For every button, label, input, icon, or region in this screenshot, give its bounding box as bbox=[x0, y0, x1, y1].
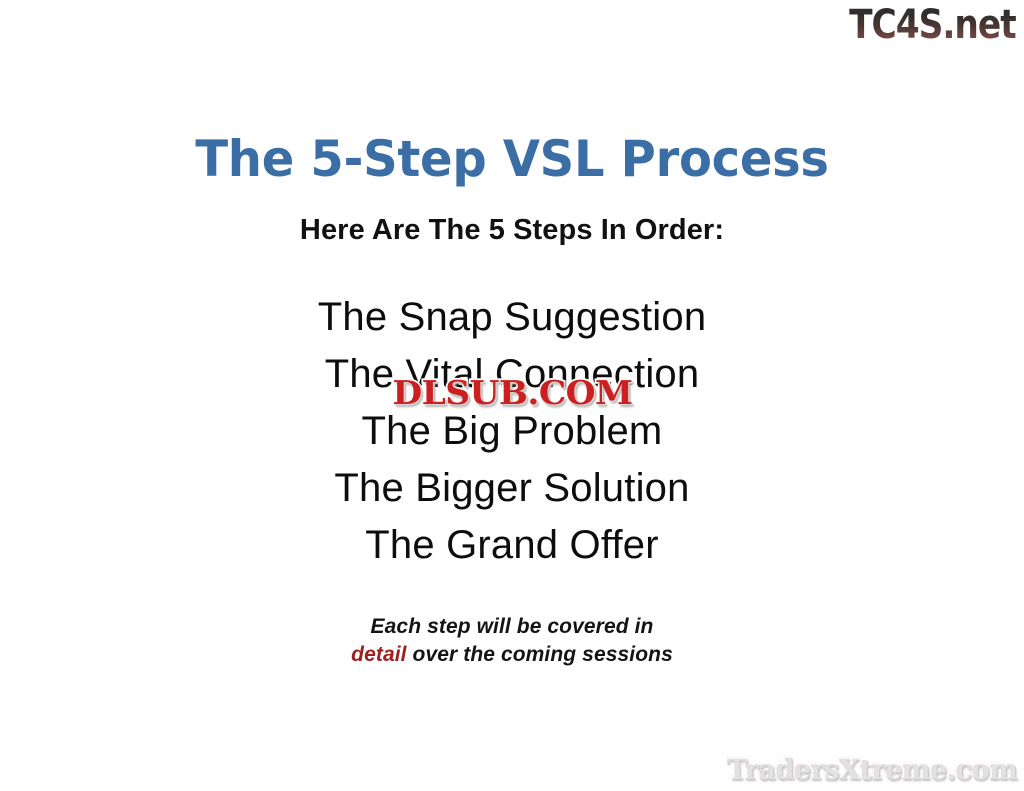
closing-note-rest: over the coming sessions bbox=[407, 643, 673, 666]
brand-logo-tc4s: TC4S.net bbox=[849, 2, 1016, 48]
steps-list: The Snap Suggestion The Vital Connection… bbox=[0, 289, 1024, 574]
presentation-slide: TC4S.net The 5-Step VSL Process Here Are… bbox=[0, 0, 1024, 791]
list-item: The Big Problem bbox=[0, 403, 1024, 460]
site-logo-tradersxtreme: TradersXtreme.com bbox=[726, 752, 1016, 786]
list-item: The Snap Suggestion bbox=[0, 289, 1024, 346]
list-item: The Bigger Solution bbox=[0, 460, 1024, 517]
slide-subtitle: Here Are The 5 Steps In Order: bbox=[0, 212, 1024, 248]
closing-note-line-1: Each step will be covered in bbox=[0, 613, 1024, 641]
closing-note: Each step will be covered in detail over… bbox=[0, 613, 1024, 669]
slide-title: The 5-Step VSL Process bbox=[20, 130, 1003, 188]
closing-note-line-2: detail over the coming sessions bbox=[0, 641, 1024, 669]
list-item: The Vital Connection bbox=[0, 346, 1024, 403]
closing-note-highlight: detail bbox=[351, 643, 406, 666]
list-item: The Grand Offer bbox=[0, 517, 1024, 574]
